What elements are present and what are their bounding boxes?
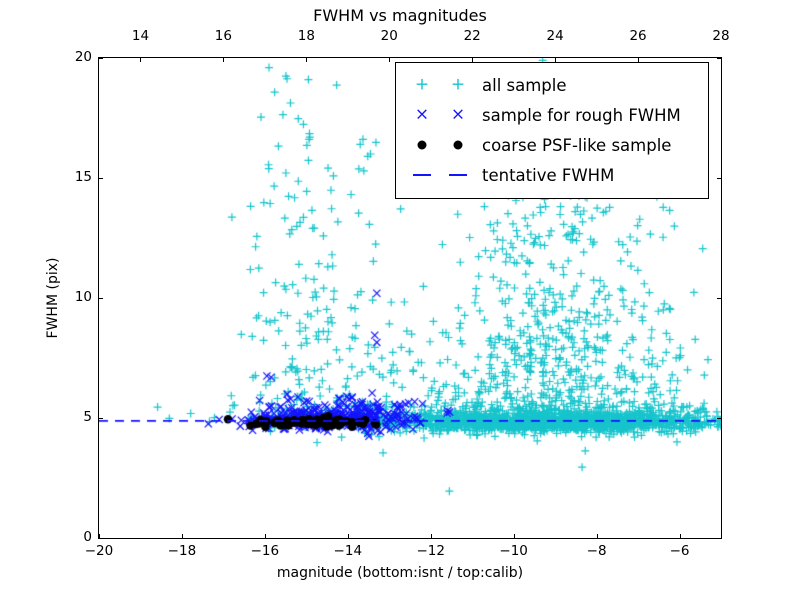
x-tick-top — [140, 58, 141, 62]
x-tick-label-top: 22 — [442, 28, 502, 44]
x-tick-bottom — [680, 534, 681, 538]
x-tick-label-bottom: −12 — [401, 543, 461, 559]
y-tick-right — [717, 538, 721, 539]
legend-cross-icon: × — [451, 107, 465, 124]
x-tick-label-top: 16 — [193, 28, 253, 44]
legend-marker — [404, 162, 476, 188]
legend-item[interactable]: coarse PSF-like sample — [404, 130, 700, 160]
x-tick-label-top: 18 — [276, 28, 336, 44]
x-tick-bottom — [265, 534, 266, 538]
y-tick-left — [99, 418, 103, 419]
legend-cross-icon: × — [415, 107, 429, 124]
legend-label: sample for rough FWHM — [476, 106, 681, 125]
x-tick-top — [223, 58, 224, 62]
x-tick-bottom — [182, 534, 183, 538]
legend-marker — [404, 132, 476, 158]
x-tick-label-bottom: −14 — [318, 543, 378, 559]
legend-plus-icon: + — [451, 77, 465, 94]
x-tick-top — [389, 58, 390, 62]
x-tick-label-top: 28 — [691, 28, 751, 44]
x-tick-label-top: 26 — [608, 28, 668, 44]
figure-canvas: FWHM vs magnitudes −20−18−16−14−12−10−8−… — [0, 0, 800, 600]
x-tick-label-top: 20 — [359, 28, 419, 44]
legend-item[interactable]: ++all sample — [404, 70, 700, 100]
chart-title: FWHM vs magnitudes — [0, 6, 800, 25]
legend-dash-icon — [413, 174, 431, 176]
x-tick-bottom — [514, 534, 515, 538]
y-tick-left — [99, 298, 103, 299]
x-tick-bottom — [431, 534, 432, 538]
x-axis-label: magnitude (bottom:isnt / top:calib) — [0, 565, 800, 581]
legend-label: all sample — [476, 76, 567, 95]
y-tick-left — [99, 178, 103, 179]
x-tick-label-bottom: −20 — [69, 543, 129, 559]
legend-marker: ++ — [404, 72, 476, 98]
x-tick-top — [306, 58, 307, 62]
y-tick-right — [717, 178, 721, 179]
x-tick-top — [721, 58, 722, 62]
x-tick-label-bottom: −8 — [567, 543, 627, 559]
x-tick-label-bottom: −18 — [152, 543, 212, 559]
x-tick-label-bottom: −10 — [484, 543, 544, 559]
legend-label: tentative FWHM — [476, 166, 614, 185]
legend-dot-icon — [418, 141, 427, 150]
y-tick-right — [717, 418, 721, 419]
legend-dash-icon — [449, 174, 467, 176]
legend-label: coarse PSF-like sample — [476, 136, 671, 155]
legend-marker: ×× — [404, 102, 476, 128]
legend-item[interactable]: ××sample for rough FWHM — [404, 100, 700, 130]
x-tick-label-bottom: −16 — [235, 543, 295, 559]
x-tick-bottom — [597, 534, 598, 538]
y-tick-right — [717, 298, 721, 299]
legend: ++all sample××sample for rough FWHMcoars… — [395, 62, 709, 199]
y-tick-left — [99, 538, 103, 539]
y-tick-right — [717, 58, 721, 59]
legend-plus-icon: + — [415, 77, 429, 94]
y-axis-label: FWHM (pix) — [45, 57, 61, 539]
y-tick-left — [99, 58, 103, 59]
legend-item[interactable]: tentative FWHM — [404, 160, 700, 190]
x-tick-bottom — [348, 534, 349, 538]
x-tick-label-top: 14 — [110, 28, 170, 44]
x-tick-label-bottom: −6 — [650, 543, 710, 559]
legend-dot-icon — [454, 141, 463, 150]
x-tick-label-top: 24 — [525, 28, 585, 44]
